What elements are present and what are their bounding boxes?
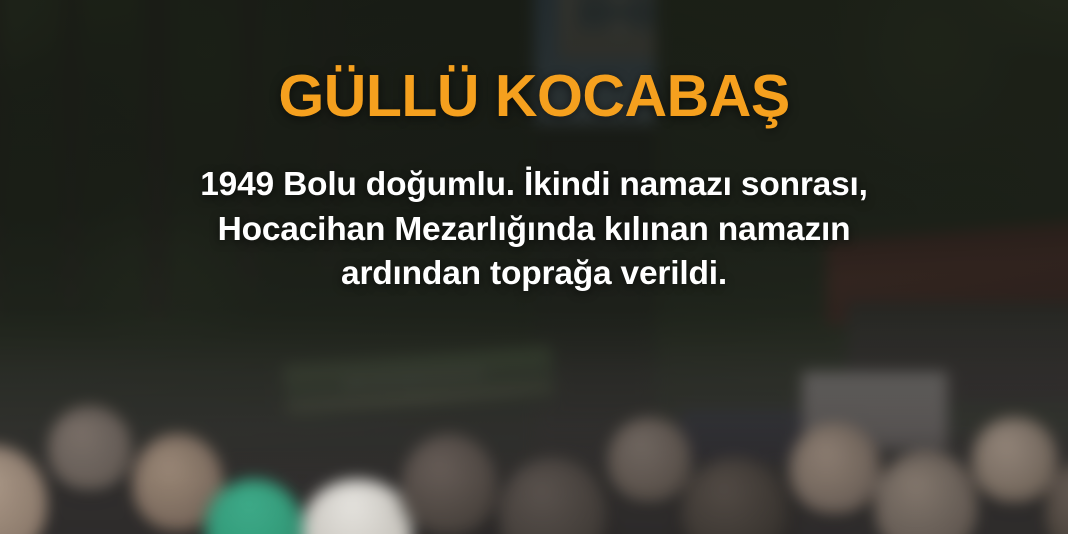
text-content: GÜLLÜ KOCABAŞ 1949 Bolu doğumlu. İkindi …: [0, 0, 1068, 297]
obituary-line: Hocacihan Mezarlığında kılınan namazın: [0, 208, 1068, 253]
page-title: GÜLLÜ KOCABAŞ: [0, 66, 1068, 127]
memorial-card: KONYA BÜYÜKŞEHİR BELEDİYESİ KONYA BÜYÜKŞ…: [0, 0, 1068, 534]
obituary-line: 1949 Bolu doğumlu. İkindi namazı sonrası…: [0, 163, 1068, 208]
obituary-text: 1949 Bolu doğumlu. İkindi namazı sonrası…: [0, 163, 1068, 297]
obituary-line: ardından toprağa verildi.: [0, 252, 1068, 297]
